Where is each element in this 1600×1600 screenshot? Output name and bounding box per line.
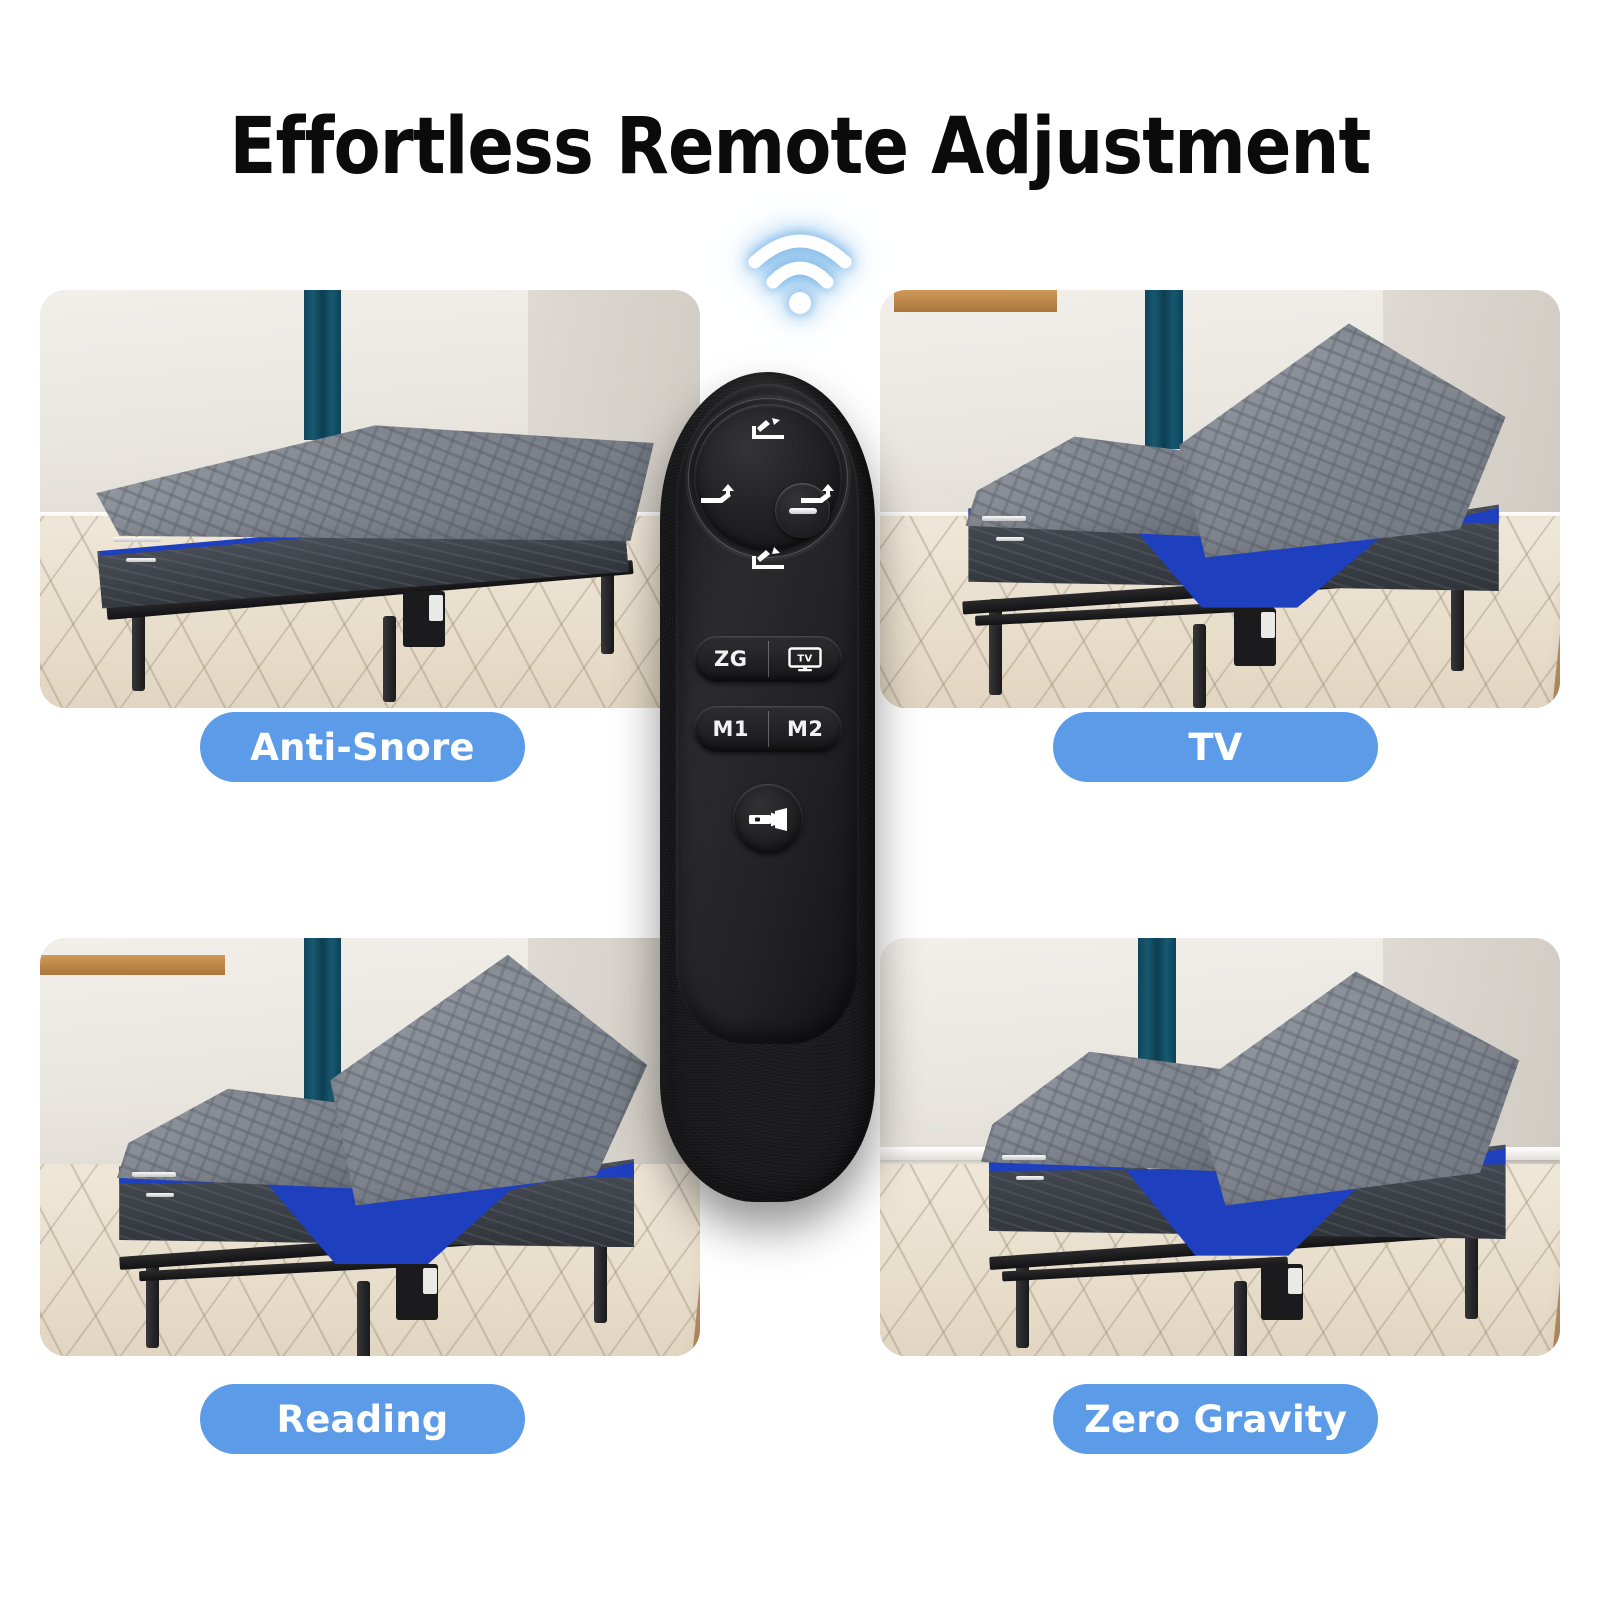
panel-reading[interactable] [40, 938, 700, 1356]
head-up-icon[interactable] [748, 416, 790, 444]
preset-button-row-1: ZG TV [694, 636, 842, 682]
page-title: Effortless Remote Adjustment [96, 108, 1504, 188]
adjustable-bed-remote[interactable]: ZG TV M1 M2 [660, 372, 875, 1202]
label-reading[interactable]: Reading [200, 1384, 525, 1454]
flashlight-icon [747, 807, 789, 831]
flashlight-button[interactable] [733, 784, 803, 854]
panel-zero-gravity[interactable] [880, 938, 1560, 1356]
panel-anti-snore[interactable] [40, 290, 700, 708]
memory-1-button[interactable]: M1 [694, 706, 768, 752]
tv-icon: TV [788, 647, 822, 672]
svg-text:TV: TV [797, 653, 813, 664]
bedroom-scene-tv [880, 290, 1560, 708]
foot-up-icon[interactable] [698, 482, 740, 510]
bed-zero-gravity [880, 938, 1560, 1356]
zero-gravity-button[interactable]: ZG [694, 636, 768, 682]
preset-button-row-2: M1 M2 [694, 706, 842, 752]
bed-reading [40, 938, 700, 1356]
head-down-icon[interactable] [748, 546, 790, 574]
label-tv[interactable]: TV [1053, 712, 1378, 782]
wifi-icon [735, 218, 865, 318]
bedroom-scene-anti-snore [40, 290, 700, 708]
bedroom-scene-reading [40, 938, 700, 1356]
memory-2-button[interactable]: M2 [769, 706, 843, 752]
foot-down-icon[interactable] [798, 482, 840, 510]
label-anti-snore[interactable]: Anti-Snore [200, 712, 525, 782]
bed-tv [880, 290, 1560, 708]
label-zero-gravity[interactable]: Zero Gravity [1053, 1384, 1378, 1454]
tv-button[interactable]: TV [769, 636, 843, 682]
bedroom-scene-zero-gravity [880, 938, 1560, 1356]
bed-anti-snore [40, 290, 700, 708]
panel-tv[interactable] [880, 290, 1560, 708]
